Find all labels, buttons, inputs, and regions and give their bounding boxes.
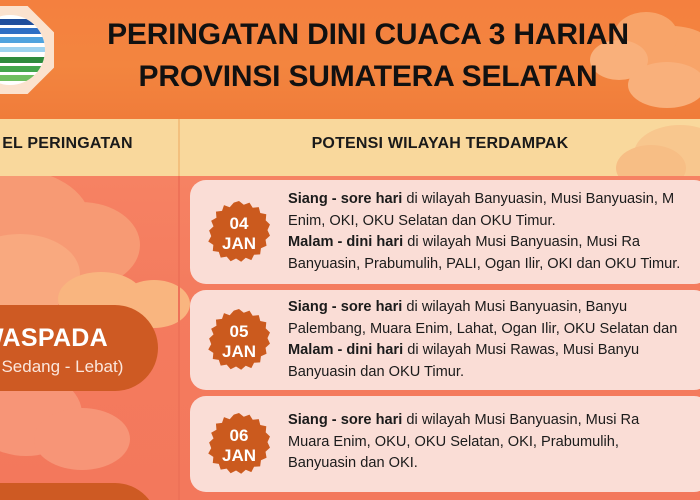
- date-badge-day: 04: [208, 214, 270, 234]
- impact-line-bold: Malam - dini hari: [288, 234, 403, 250]
- impact-line-rest: Muara Enim, OKU, OKU Selatan, OKI, Prabu…: [288, 434, 619, 450]
- impact-line: Malam - dini hari di wilayah Musi Banyua…: [288, 232, 700, 254]
- impact-line: Banyuasin dan OKI.: [288, 453, 700, 475]
- impact-card-list: 04 JAN Siang - sore hari di wilayah Bany…: [190, 176, 700, 500]
- impact-line-rest: di wilayah Musi Banyuasin, Musi Ra: [403, 234, 640, 250]
- impact-card: 04 JAN Siang - sore hari di wilayah Bany…: [190, 180, 700, 284]
- impact-line-rest: Banyuasin dan OKI.: [288, 455, 418, 471]
- column-header-impact: POTENSI WILAYAH TERDAMPAK: [180, 135, 700, 153]
- impact-line: Siang - sore hari di wilayah Banyuasin, …: [288, 189, 700, 211]
- impact-card: 06 JAN Siang - sore hari di wilayah Musi…: [190, 396, 700, 492]
- impact-line-rest: di wilayah Musi Banyuasin, Banyu: [402, 299, 627, 315]
- page-title-line2: PROVINSI SUMATERA SELATAN: [58, 56, 678, 98]
- impact-line-rest: di wilayah Musi Banyuasin, Musi Ra: [402, 412, 639, 428]
- level-badge-waspada: WASPADA ujan Sedang - Lebat): [0, 305, 158, 391]
- level-badge-waspada-subtitle: ujan Sedang - Lebat): [0, 357, 158, 377]
- impact-line-rest: Banyuasin, Prabumulih, PALI, Ogan Ilir, …: [288, 256, 680, 272]
- impact-line-rest: di wilayah Banyuasin, Musi Banyuasin, M: [402, 191, 674, 207]
- date-badge-starburst-icon: 04 JAN: [208, 201, 270, 263]
- cloud-decor-icon: [34, 408, 130, 470]
- impact-line-rest: Banyuasin dan OKU Timur.: [288, 364, 464, 380]
- table-column-header-row: EL PERINGATAN POTENSI WILAYAH TERDAMPAK: [0, 119, 700, 176]
- logo-wordmark: G: [0, 92, 56, 114]
- date-badge-starburst-icon: 06 JAN: [208, 413, 270, 475]
- date-badge-day: 06: [208, 426, 270, 446]
- impact-line-rest: di wilayah Musi Rawas, Musi Banyu: [403, 342, 639, 358]
- impact-card-text: Siang - sore hari di wilayah Musi Banyua…: [288, 396, 700, 492]
- impact-line-bold: Siang - sore hari: [288, 191, 402, 207]
- impact-card-text: Siang - sore hari di wilayah Musi Banyua…: [288, 290, 700, 390]
- column-divider: [178, 176, 180, 500]
- impact-line: Banyuasin dan OKU Timur.: [288, 362, 700, 384]
- infographic-canvas: G PERINGATAN DINI CUACA 3 HARIAN PROVINS…: [0, 0, 700, 500]
- impact-line-bold: Malam - dini hari: [288, 342, 403, 358]
- date-badge-day: 05: [208, 322, 270, 342]
- column-header-level: EL PERINGATAN: [0, 135, 175, 153]
- date-badge-month: JAN: [208, 342, 270, 362]
- impact-line: Siang - sore hari di wilayah Musi Banyua…: [288, 410, 700, 432]
- level-badge-waspada-label: WASPADA: [0, 324, 158, 353]
- bmkg-logo: G: [0, 6, 62, 118]
- impact-line: Siang - sore hari di wilayah Musi Banyua…: [288, 297, 700, 319]
- impact-card: 05 JAN Siang - sore hari di wilayah Musi…: [190, 290, 700, 390]
- impact-line-rest: Enim, OKI, OKU Selatan dan OKU Timur.: [288, 213, 556, 229]
- date-badge-month: JAN: [208, 446, 270, 466]
- impact-line: Muara Enim, OKU, OKU Selatan, OKI, Prabu…: [288, 432, 700, 454]
- level-badge-siaga: SIAGA: [0, 483, 158, 500]
- impact-line: Enim, OKI, OKU Selatan dan OKU Timur.: [288, 211, 700, 233]
- date-badge-month: JAN: [208, 234, 270, 254]
- impact-line-bold: Siang - sore hari: [288, 299, 402, 315]
- impact-line: Malam - dini hari di wilayah Musi Rawas,…: [288, 340, 700, 362]
- impact-line-rest: Palembang, Muara Enim, Lahat, Ogan Ilir,…: [288, 321, 677, 337]
- impact-line-bold: Siang - sore hari: [288, 412, 402, 428]
- date-badge-starburst-icon: 05 JAN: [208, 309, 270, 371]
- impact-card-text: Siang - sore hari di wilayah Banyuasin, …: [288, 180, 700, 284]
- page-title: PERINGATAN DINI CUACA 3 HARIAN PROVINSI …: [58, 14, 678, 98]
- header-banner: G PERINGATAN DINI CUACA 3 HARIAN PROVINS…: [0, 0, 700, 119]
- impact-line: Banyuasin, Prabumulih, PALI, Ogan Ilir, …: [288, 254, 700, 276]
- impact-line: Palembang, Muara Enim, Lahat, Ogan Ilir,…: [288, 319, 700, 341]
- page-title-line1: PERINGATAN DINI CUACA 3 HARIAN: [107, 18, 629, 51]
